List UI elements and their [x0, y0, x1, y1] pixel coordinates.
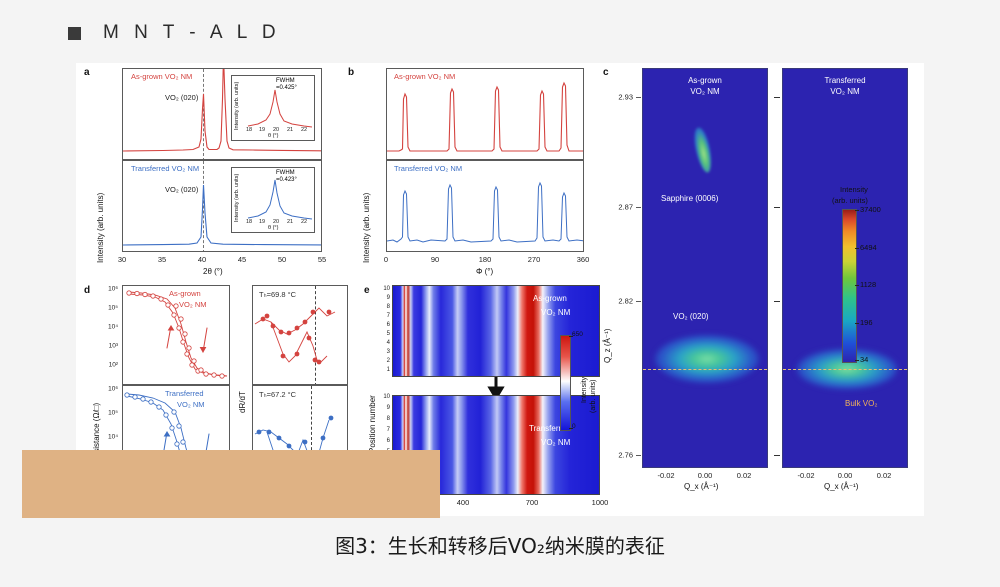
panel-d-ytick-b2: 10⁴ [98, 434, 118, 441]
panel-a-inset-bottom-xtick-4: 22 [301, 219, 307, 225]
panel-a-bottom-inset: FWHM =0.423° Intensity (arb. units) 18 1… [231, 167, 315, 233]
panel-b-xtick-1: 90 [431, 255, 439, 264]
panel-a-xtick-2: 40 [198, 255, 206, 264]
panel-b-bottom-curve [387, 161, 584, 252]
panel-c-right-xlabel: Q_x (Å⁻¹) [824, 482, 858, 491]
panel-e-colorbar-title-l1: Intensity [581, 377, 588, 403]
panel-a-inset-bottom-xlabel: θ (°) [268, 225, 278, 231]
panel-c-right-xtick-0: -0.02 [797, 471, 814, 480]
panel-e-ytick-t8: 2 [376, 358, 390, 364]
panel-a-xtick-4: 50 [278, 255, 286, 264]
panel-letter-a: a [84, 67, 90, 78]
panel-d-ytick-t4: 10² [98, 362, 118, 369]
panel-c-colorbar-tick-1: 6494 [860, 243, 877, 252]
panel-e-ytick-t4: 6 [376, 322, 390, 328]
panel-d-drdt-top: Tₕ=69.8 °C [252, 285, 348, 385]
panel-c-left-xtick-1: 0.00 [698, 471, 713, 480]
panel-c-colorbar-tick-0: 37400 [860, 205, 881, 214]
panel-c-left-xtick-0: -0.02 [657, 471, 674, 480]
panel-a-inset-top-xtick-4: 22 [301, 127, 307, 133]
panel-c-ytick-2: 2.82 [607, 297, 633, 306]
panel-e-xtick-2: 700 [526, 498, 539, 507]
panel-c-colorbar-tick-2: 1128 [860, 280, 876, 289]
panel-c-colorbar-gradient [842, 209, 857, 363]
panel-c-ytick-1: 2.87 [607, 203, 633, 212]
decorative-tan-block [22, 450, 440, 518]
panel-b-top-plot: As-grown VO₂ NM [386, 68, 584, 160]
panel-e-ytick-t2: 8 [376, 304, 390, 310]
panel-c-ytick-3: 2.76 [607, 451, 633, 460]
panel-a-inset-top-xlabel: θ (°) [268, 133, 278, 139]
panel-letter-b: b [348, 67, 354, 78]
panel-c-ylabel: Q_z (Å⁻¹) [603, 329, 612, 363]
panel-c-colorbar-tick-4: 34 [860, 355, 868, 364]
panel-e-xtick-1: 400 [457, 498, 470, 507]
panel-c-vo2-spot [655, 335, 759, 383]
panel-letter-e: e [364, 285, 370, 296]
panel-letter-d: d [84, 285, 90, 296]
panel-e-top-title-l1: As-grown [533, 294, 567, 303]
panel-e-ytick-b4: 6 [376, 438, 390, 444]
panel-d-ytick-b1: 10⁵ [98, 410, 118, 417]
page-title: M N T - A L D [103, 22, 281, 44]
panel-a-xtick-0: 30 [118, 255, 126, 264]
square-bullet-icon [68, 27, 81, 40]
panel-e-ylabel: Position number [368, 395, 377, 453]
panel-c-bulk-reference-line-left [643, 369, 767, 370]
panel-c-vo2-label: VO₂ (020) [673, 312, 709, 321]
panel-e-ytick-t5: 5 [376, 331, 390, 337]
panel-d-ytick-t1: 10⁵ [98, 305, 118, 312]
panel-c-ytick-0: 2.93 [607, 93, 633, 102]
panel-a-xlabel: 2θ (°) [203, 267, 223, 276]
panel-d-ytick-t3: 10³ [98, 343, 118, 350]
panel-a-xtick-3: 45 [238, 255, 246, 264]
panel-b-xlabel: Φ (°) [476, 267, 493, 276]
figure-canvas: a Intensity (arb. units) As-grown VO₂ NM… [76, 63, 924, 516]
panel-b-ylabel: Intensity (arb. units) [362, 193, 371, 263]
panel-e-colorbar-max: 650 [572, 331, 583, 338]
panel-b-xtick-4: 360 [577, 255, 590, 264]
figure-caption: 图3：生长和转移后VO₂纳米膜的表征 [0, 530, 1000, 559]
panel-b-top-curve [387, 69, 584, 160]
panel-e-colorbar-title-l2: (arb. units) [590, 380, 597, 413]
panel-c-left-title-l2: VO₂ NM [690, 87, 719, 96]
panel-d-ytick-b0: 10⁶ [98, 386, 118, 393]
panel-e-ytick-b3: 7 [376, 427, 390, 433]
panel-e-colorbar-min: 0 [572, 423, 576, 430]
panel-a-top-inset: FWHM =0.425° Intensity (arb. units) 18 1… [231, 75, 315, 141]
panel-a-top-plot: As-grown VO₂ NM VO₂ (020) FWHM =0.425° I… [122, 68, 322, 160]
panel-d-resistance-top: As-grown VO₂ NM [122, 285, 230, 385]
panel-c-colorbar-title-l1: Intensity [840, 185, 868, 194]
panel-e-ytick-t0: 10 [376, 286, 390, 292]
panel-c-colorbar-tick-3: 196 [860, 318, 873, 327]
panel-e-top-title-l2: VO₂ NM [541, 308, 570, 317]
panel-d-ytick-t2: 10⁴ [98, 324, 118, 331]
panel-c-left-xlabel: Q_x (Å⁻¹) [684, 482, 718, 491]
panel-d-drdt-top-curve [253, 286, 348, 385]
panel-c-bulk-label: Bulk VO₂ [845, 399, 877, 408]
panel-e-bottom-title-l2: VO₂ NM [541, 438, 570, 447]
panel-c-right-title-l2: VO₂ NM [830, 87, 859, 96]
panel-a-xtick-1: 35 [158, 255, 166, 264]
panel-c-sapphire-spot [691, 126, 714, 174]
panel-e-colorbar-gradient [560, 335, 571, 431]
slide-header: M N T - A L D [68, 22, 281, 44]
panel-b-xtick-3: 270 [528, 255, 541, 264]
panel-a-inset-top-xtick-3: 21 [287, 127, 293, 133]
panel-e-ytick-b0: 10 [376, 394, 390, 400]
panel-e-xtick-3: 1000 [592, 498, 609, 507]
panel-b-xtick-0: 0 [384, 255, 388, 264]
panel-d-top-curves [123, 286, 230, 385]
panel-e-ytick-t1: 9 [376, 295, 390, 301]
panel-e-ytick-t3: 7 [376, 313, 390, 319]
panel-c-right-xtick-2: 0.02 [877, 471, 892, 480]
panel-letter-c: c [603, 67, 609, 78]
panel-b-bottom-plot: Transferred VO₂ NM [386, 160, 584, 252]
panel-d-right-ylabel: dR/dT [238, 391, 247, 413]
panel-c-right-xtick-1: 0.00 [838, 471, 853, 480]
panel-c-left-title-l1: As-grown [688, 76, 722, 85]
panel-e-ytick-b2: 8 [376, 416, 390, 422]
panel-e-ytick-b1: 9 [376, 405, 390, 411]
panel-e-ytick-t7: 3 [376, 349, 390, 355]
panel-a-bottom-plot: Transferred VO₂ NM VO₂ (020) FWHM =0.423… [122, 160, 322, 252]
panel-b-xtick-2: 180 [479, 255, 492, 264]
panel-a-inset-bottom-xtick-1: 19 [259, 219, 265, 225]
panel-a-inset-bottom-xtick-0: 18 [246, 219, 252, 225]
panel-c-rsm-as-grown: As-grown VO₂ NM Sapphire (0006) VO₂ (020… [642, 68, 768, 468]
panel-a-inset-top-xtick-0: 18 [246, 127, 252, 133]
panel-c-sapphire-label: Sapphire (0006) [661, 194, 718, 203]
panel-c-right-title-l1: Transferred [824, 76, 865, 85]
panel-e-ytick-t9: 1 [376, 367, 390, 373]
panel-a-xtick-5: 55 [318, 255, 326, 264]
panel-c-bulk-reference-line-right [783, 369, 907, 370]
panel-a-inset-top-xtick-1: 19 [259, 127, 265, 133]
panel-c-colorbar-title-l2: (arb. units) [832, 196, 868, 205]
panel-e-ytick-t6: 4 [376, 340, 390, 346]
panel-a-inset-bottom-xtick-3: 21 [287, 219, 293, 225]
panel-a-ylabel: Intensity (arb. units) [96, 193, 105, 263]
panel-c-left-xtick-2: 0.02 [737, 471, 752, 480]
panel-d-ytick-t0: 10⁶ [98, 286, 118, 293]
